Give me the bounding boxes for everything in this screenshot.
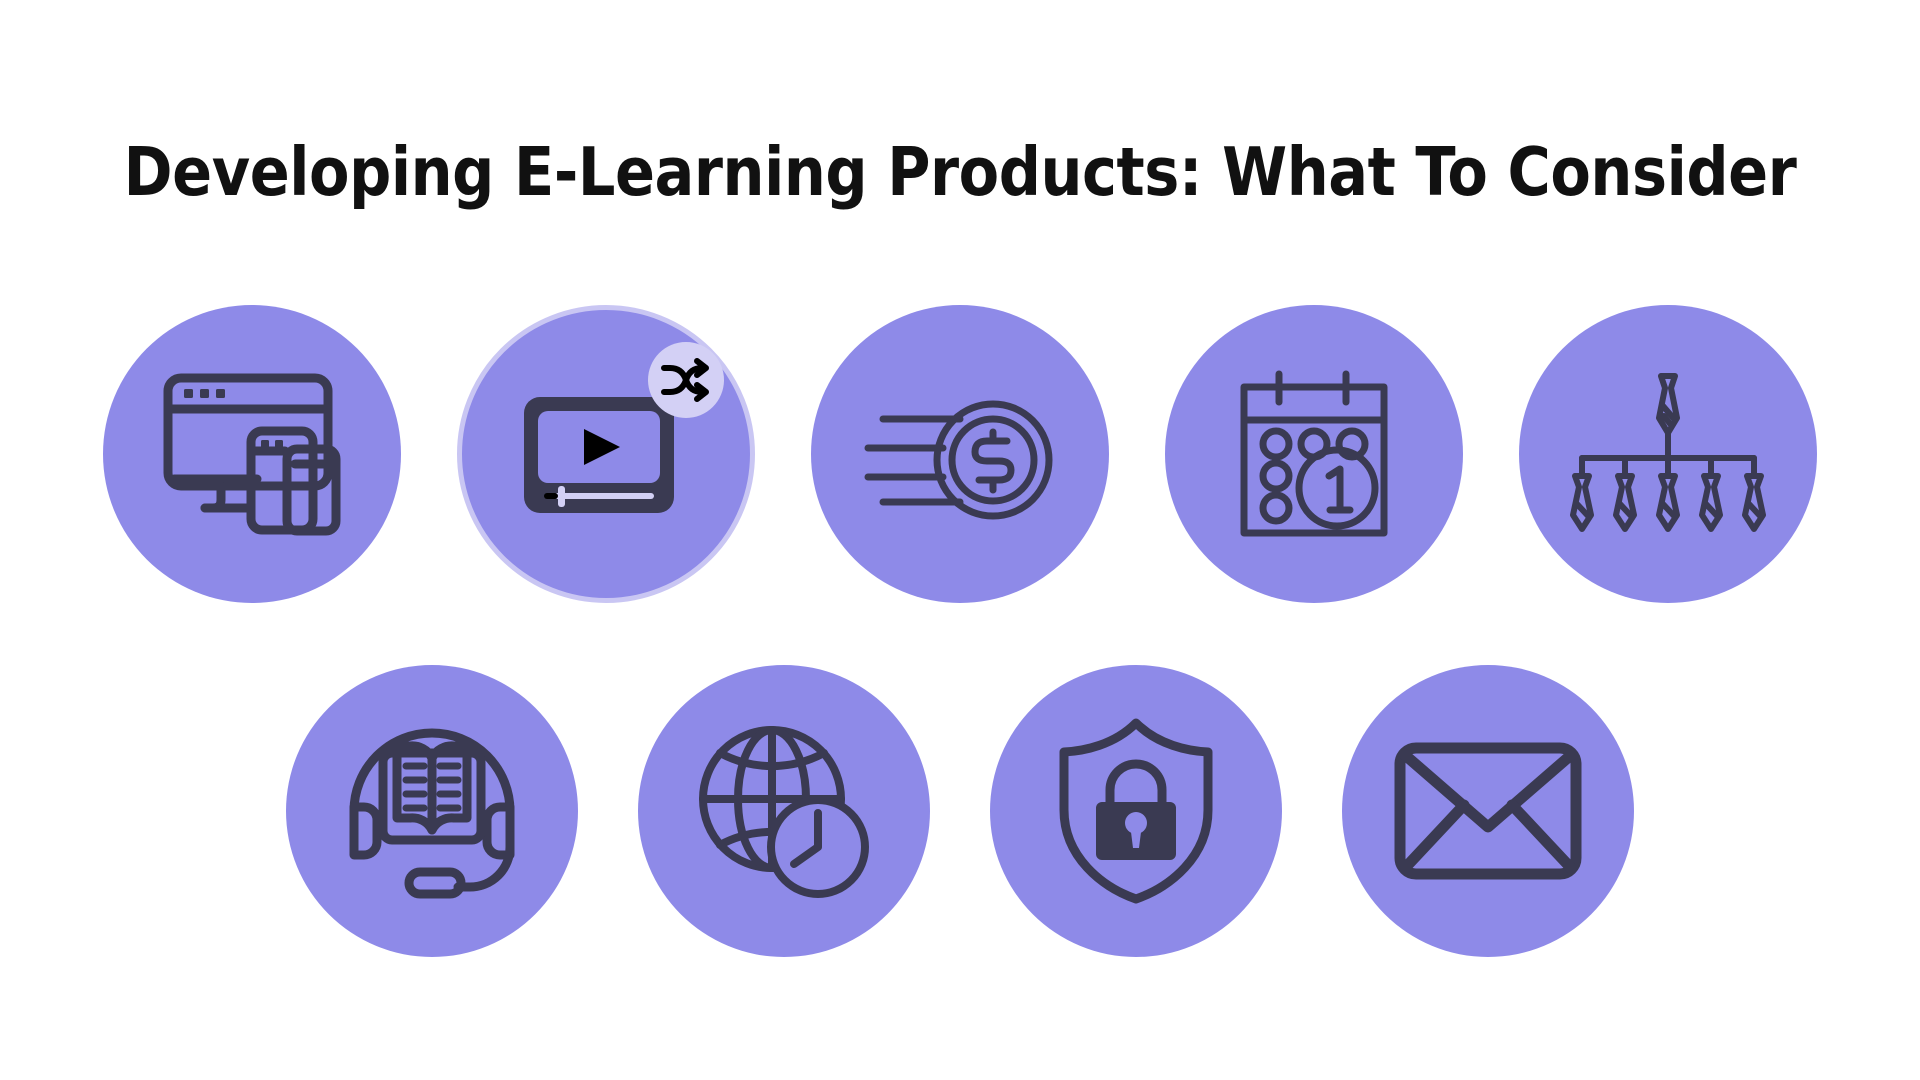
- icon-audio-learning-support[interactable]: [286, 665, 578, 957]
- headset-book-icon: [339, 725, 525, 897]
- icon-video-player[interactable]: [457, 305, 755, 603]
- icon-row-1: [0, 305, 1920, 603]
- globe-clock-icon: [696, 723, 872, 899]
- icon-responsive-devices[interactable]: [103, 305, 401, 603]
- shield-lock-icon: [1056, 718, 1216, 904]
- icon-schedule[interactable]: [1165, 305, 1463, 603]
- icon-email[interactable]: [1342, 665, 1634, 957]
- icon-cost[interactable]: [811, 305, 1109, 603]
- icon-security[interactable]: [990, 665, 1282, 957]
- envelope-icon: [1393, 741, 1583, 881]
- page-title: Developing E-Learning Products: What To …: [115, 133, 1805, 211]
- responsive-devices-icon: [159, 369, 345, 539]
- icon-team-structure[interactable]: [1519, 305, 1817, 603]
- calendar-day-one-icon: [1234, 370, 1394, 538]
- shuffle-icon[interactable]: [648, 342, 724, 418]
- money-coin-icon: [865, 389, 1055, 519]
- org-chart-tie-icon: [1568, 372, 1768, 536]
- icon-global-time-zones[interactable]: [638, 665, 930, 957]
- icon-row-2: [0, 665, 1920, 957]
- slide-canvas: Developing E-Learning Products: What To …: [0, 0, 1920, 1080]
